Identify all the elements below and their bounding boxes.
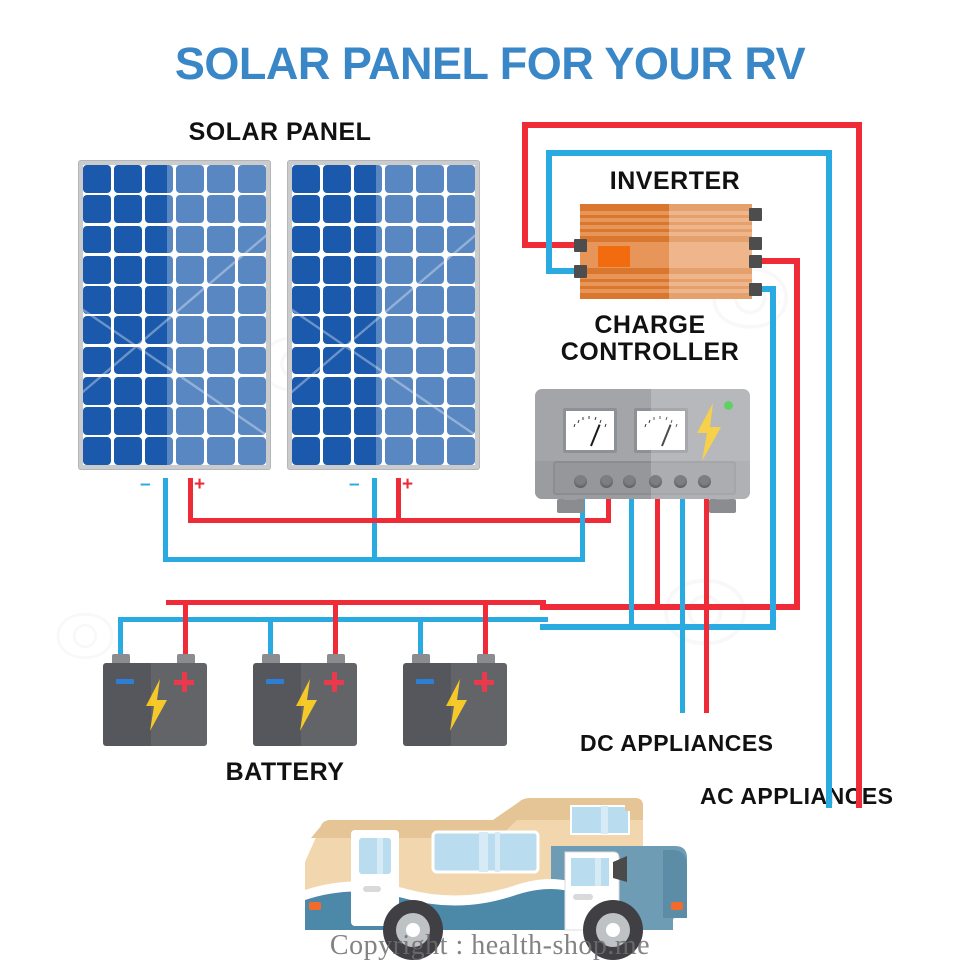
solar-cell [385,256,413,284]
solar-cell [176,437,204,465]
wire-ac-blue-left-down [546,150,552,274]
solar-cell [83,347,111,375]
solar-cell [83,407,111,435]
solar-panel-1-negative-label: – [140,474,151,496]
controller-terminal-1[interactable] [574,475,587,488]
controller-foot-right [709,499,736,513]
solar-cell [292,407,320,435]
solar-cell [354,437,382,465]
wire-ac-red-top [522,122,862,128]
inverter-terminal-in-red[interactable] [574,239,587,252]
inverter-terminal-out-1[interactable] [749,208,762,221]
charge-controller-device[interactable] [535,389,750,499]
solar-cell [447,165,475,193]
solar-cell [145,165,173,193]
inverter-device[interactable] [580,204,752,299]
label-solar-panel: SOLAR PANEL [0,118,560,147]
solar-cell [114,195,142,223]
wire-ac-blue-right-down [826,150,832,808]
solar-cell [354,195,382,223]
solar-cell [83,195,111,223]
solar-cell [292,226,320,254]
wire-battery2-pos [333,600,338,657]
solar-cell [238,226,266,254]
battery-gloss [301,663,357,746]
solar-cell [416,256,444,284]
solar-cell [83,437,111,465]
solar-cell [176,407,204,435]
wire-ctrl-t4-red [655,495,660,604]
controller-terminal-5[interactable] [674,475,687,488]
wire-battery1-neg [118,617,123,657]
solar-cell [83,286,111,314]
solar-panel-2-positive-label: + [402,474,413,496]
battery-negative-terminal-icon [416,679,434,684]
solar-cell [145,377,173,405]
solar-cell [323,165,351,193]
solar-cell [323,226,351,254]
solar-cell [385,286,413,314]
label-inverter: INVERTER [560,167,790,196]
wire-ac-blue-top [546,150,832,156]
solar-panel-2-surface [292,165,475,465]
solar-cell [114,407,142,435]
solar-cell [145,347,173,375]
solar-cell [292,286,320,314]
solar-cell [292,377,320,405]
wire-inverter-out-blue-down [770,286,776,630]
solar-cell [447,195,475,223]
controller-terminal-3[interactable] [623,475,636,488]
wire-battery1-pos [183,600,188,657]
battery-negative-terminal-icon [266,679,284,684]
wire-battery-red-bus [166,600,546,605]
controller-terminal-6[interactable] [698,475,711,488]
solar-cell [323,407,351,435]
solar-cell [207,407,235,435]
solar-cell [207,195,235,223]
wire-panel1-pos-down [188,478,193,522]
solar-cell [416,407,444,435]
solar-cell [323,286,351,314]
wire-ctrl-t2-red [606,495,611,523]
solar-cell [207,226,235,254]
solar-cell [354,256,382,284]
wire-inverter-out-blue-left [540,624,776,630]
solar-cell [354,226,382,254]
solar-cell [176,377,204,405]
solar-cell [83,165,111,193]
solar-cell [354,377,382,405]
solar-cell [292,347,320,375]
wire-battery3-neg [418,617,423,657]
solar-cell [207,437,235,465]
solar-cell [114,226,142,254]
solar-cell [114,286,142,314]
solar-cell [145,195,173,223]
solar-cell [207,377,235,405]
solar-cell [176,316,204,344]
solar-cell [292,165,320,193]
wire-inverter-out-red-down [794,258,800,610]
solar-cell [385,226,413,254]
battery-3[interactable] [403,663,507,746]
solar-cell [176,256,204,284]
solar-cell [238,437,266,465]
solar-cell [416,165,444,193]
solar-cell [238,195,266,223]
solar-cell [354,286,382,314]
battery-gloss [151,663,207,746]
solar-cell [114,256,142,284]
label-ac-appliances: AC APPLIANCES [700,783,894,810]
solar-cell [207,256,235,284]
solar-cell [323,377,351,405]
solar-cell [145,407,173,435]
solar-cell [207,165,235,193]
solar-cell [176,347,204,375]
solar-cell [447,347,475,375]
solar-cell [83,377,111,405]
controller-terminal-4[interactable] [649,475,662,488]
controller-terminal-2[interactable] [600,475,613,488]
inverter-terminal-in-blue[interactable] [574,265,587,278]
solar-cell [416,226,444,254]
wire-ac-red-left-down [522,122,528,248]
label-charge-line1: CHARGE [594,311,705,339]
solar-cell [176,226,204,254]
wire-inverter-out-red-left [540,604,800,610]
solar-cell [323,195,351,223]
solar-cell [238,377,266,405]
solar-cell [114,165,142,193]
solar-cell [385,316,413,344]
inverter-led-icon [598,246,630,267]
solar-cell [447,226,475,254]
solar-cell [447,407,475,435]
solar-cell [354,407,382,435]
solar-cell [292,256,320,284]
solar-cell [354,316,382,344]
solar-panel-1[interactable] [78,160,271,470]
solar-cell [238,286,266,314]
solar-cell [385,347,413,375]
battery-negative-terminal-icon [116,679,134,684]
solar-panel-2[interactable] [287,160,480,470]
solar-cell [447,377,475,405]
solar-cell [114,347,142,375]
solar-cell [145,256,173,284]
solar-cell [323,437,351,465]
wire-battery2-neg [268,617,273,657]
wire-panel-red-bus [188,518,608,523]
battery-1[interactable] [103,663,207,746]
solar-cell [447,286,475,314]
solar-cell [447,316,475,344]
solar-cell [114,316,142,344]
solar-cell [292,437,320,465]
solar-cell [83,256,111,284]
label-dc-appliances: DC APPLIANCES [580,730,774,757]
solar-cell [354,347,382,375]
solar-cell [238,165,266,193]
solar-cell [323,316,351,344]
solar-cell [238,316,266,344]
wire-panel1-neg-down [163,478,168,562]
solar-cell [145,316,173,344]
solar-cell [176,286,204,314]
wire-panel2-pos-down [396,478,401,522]
solar-cell [447,256,475,284]
solar-cell [292,316,320,344]
diagram-canvas: SOLAR PANEL FOR YOUR RV SOLAR PANEL INVE… [0,0,980,980]
solar-cell-grid [292,165,475,465]
solar-panel-1-positive-label: + [194,474,205,496]
label-battery: BATTERY [145,758,425,787]
inverter-gloss [669,204,752,299]
solar-cell [176,195,204,223]
analog-meter-icon [563,408,617,453]
solar-cell [385,377,413,405]
label-charge-controller: CHARGE CONTROLLER [530,312,770,366]
inverter-terminal-out-4[interactable] [749,283,762,296]
solar-cell-grid [83,165,266,465]
solar-cell [238,347,266,375]
solar-cell [354,165,382,193]
inverter-terminal-out-2[interactable] [749,237,762,250]
solar-cell [238,256,266,284]
solar-panel-2-negative-label: – [349,474,360,496]
solar-cell [83,226,111,254]
solar-cell [145,226,173,254]
copyright-watermark: Copyright : health-shop.me [0,930,980,962]
solar-cell [385,165,413,193]
solar-cell [207,347,235,375]
wire-panel-blue-bus [163,557,584,562]
solar-cell [416,316,444,344]
solar-cell [292,195,320,223]
solar-cell [323,256,351,284]
solar-cell [114,437,142,465]
wire-battery3-pos [483,600,488,657]
solar-cell [416,437,444,465]
solar-panel-1-surface [83,165,266,465]
solar-cell [207,286,235,314]
page-title: SOLAR PANEL FOR YOUR RV [0,38,980,90]
battery-gloss [451,663,507,746]
solar-cell [114,377,142,405]
label-charge-line2: CONTROLLER [561,338,740,366]
solar-cell [145,286,173,314]
solar-cell [385,437,413,465]
solar-cell [447,437,475,465]
solar-cell [416,195,444,223]
wire-ctrl-t6-red-dc [704,495,709,713]
solar-cell [385,407,413,435]
wire-ctrl-t5-blue-dc [680,495,685,713]
solar-cell [145,437,173,465]
solar-cell [238,407,266,435]
solar-cell [323,347,351,375]
solar-cell [207,316,235,344]
solar-cell [385,195,413,223]
solar-cell [416,286,444,314]
battery-2[interactable] [253,663,357,746]
wire-ac-red-right-down [856,122,862,808]
solar-cell [416,377,444,405]
inverter-terminal-out-3[interactable] [749,255,762,268]
solar-cell [176,165,204,193]
wire-ctrl-t3-blue [629,495,634,624]
solar-cell [83,316,111,344]
solar-cell [416,347,444,375]
controller-foot-left [557,499,584,513]
